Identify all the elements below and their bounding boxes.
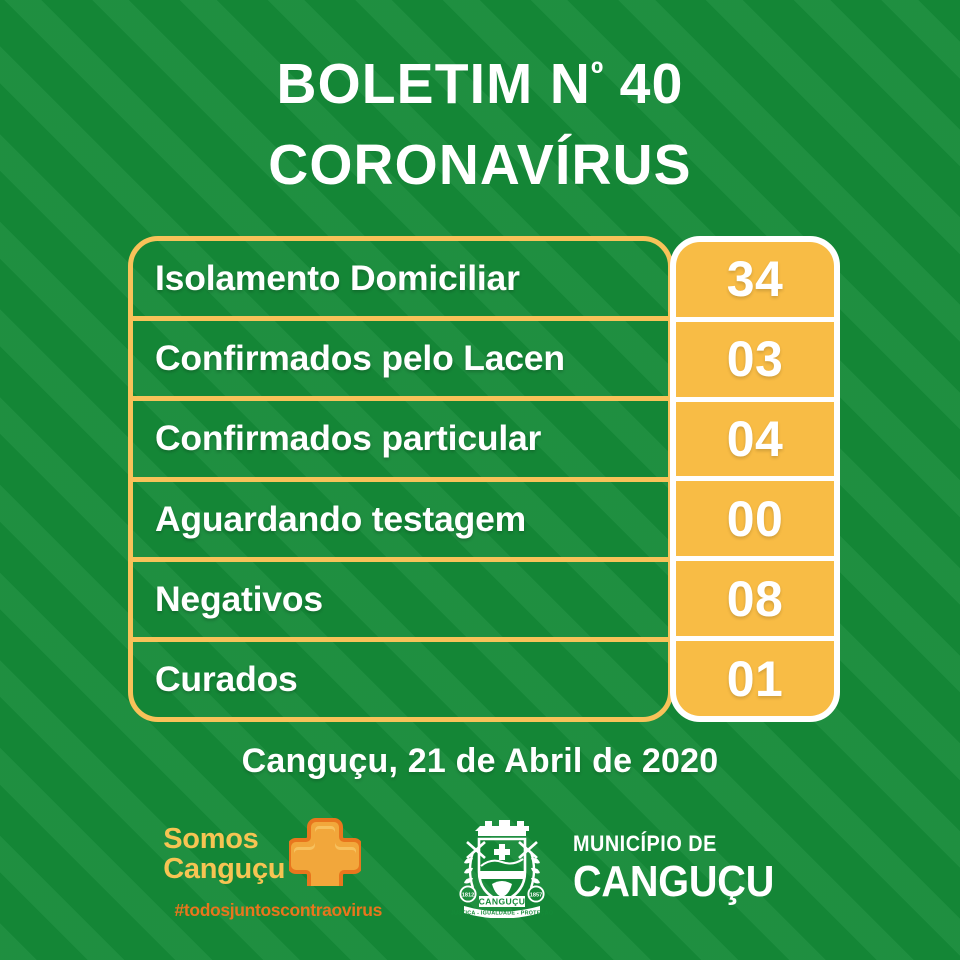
row-value: 34	[676, 242, 834, 322]
statistics-table: Isolamento Domiciliar Confirmados pelo L…	[128, 236, 840, 722]
row-label: Curados	[155, 659, 298, 700]
campaign-hashtag: #todosjuntoscontraovirus	[163, 900, 393, 921]
date-line: Canguçu, 21 de Abril de 2020	[0, 742, 960, 781]
row-value: 01	[676, 641, 834, 716]
row-label: Confirmados particular	[155, 418, 541, 459]
campaign-logo: Somos Canguçu #todosjuntoscontraovirus	[163, 812, 393, 921]
svg-text:1812: 1812	[462, 893, 474, 899]
row-label: Negativos	[155, 579, 323, 620]
campaign-line-1: Somos	[163, 825, 285, 855]
page-title: BOLETIM Nº 40 CORONAVÍRUS	[0, 44, 960, 206]
bulletin-poster: BOLETIM Nº 40 CORONAVÍRUS Isolamento Dom…	[0, 0, 960, 960]
svg-text:1857: 1857	[530, 893, 542, 899]
row-label: Isolamento Domiciliar	[155, 258, 520, 299]
row-value: 03	[676, 322, 834, 402]
table-row: Confirmados pelo Lacen	[128, 321, 673, 401]
row-label: Aguardando testagem	[155, 499, 526, 540]
svg-text:JUSTIÇA - IGUALDADE - PROTEÇÃO: JUSTIÇA - IGUALDADE - PROTEÇÃO	[451, 909, 553, 916]
table-row: Confirmados particular	[128, 401, 673, 481]
table-row: Curados	[128, 642, 673, 722]
cangucu-coat-of-arms-icon: CANGUÇU 1812 1857 JUSTIÇA - IGUALDADE - …	[451, 814, 553, 923]
municipality-line-1: MUNICÍPIO DE	[573, 833, 770, 856]
table-value-column: 34 03 04 00 08 01	[670, 236, 840, 722]
title-line-1-suffix: 40	[603, 52, 683, 116]
municipality-line-2: CANGUÇU	[573, 860, 774, 904]
table-row: Isolamento Domiciliar	[128, 236, 673, 321]
title-line-2: CORONAVÍRUS	[14, 125, 945, 206]
table-label-column: Isolamento Domiciliar Confirmados pelo L…	[128, 236, 673, 722]
ordinal-indicator: º	[591, 55, 603, 93]
plus-cross-icon	[289, 814, 361, 891]
row-label: Confirmados pelo Lacen	[155, 338, 565, 379]
title-line-1-prefix: BOLETIM N	[276, 52, 591, 116]
title-line-1: BOLETIM Nº 40	[14, 44, 945, 125]
row-value: 04	[676, 402, 834, 482]
table-row: Aguardando testagem	[128, 482, 673, 562]
row-value: 00	[676, 481, 834, 561]
footer: Somos Canguçu #todosjuntoscontraovirus	[0, 812, 960, 942]
svg-text:CANGUÇU: CANGUÇU	[479, 897, 526, 907]
row-value: 08	[676, 561, 834, 641]
table-row: Negativos	[128, 562, 673, 642]
municipality-logo: CANGUÇU 1812 1857 JUSTIÇA - IGUALDADE - …	[451, 812, 796, 923]
campaign-line-2: Canguçu	[163, 855, 285, 885]
